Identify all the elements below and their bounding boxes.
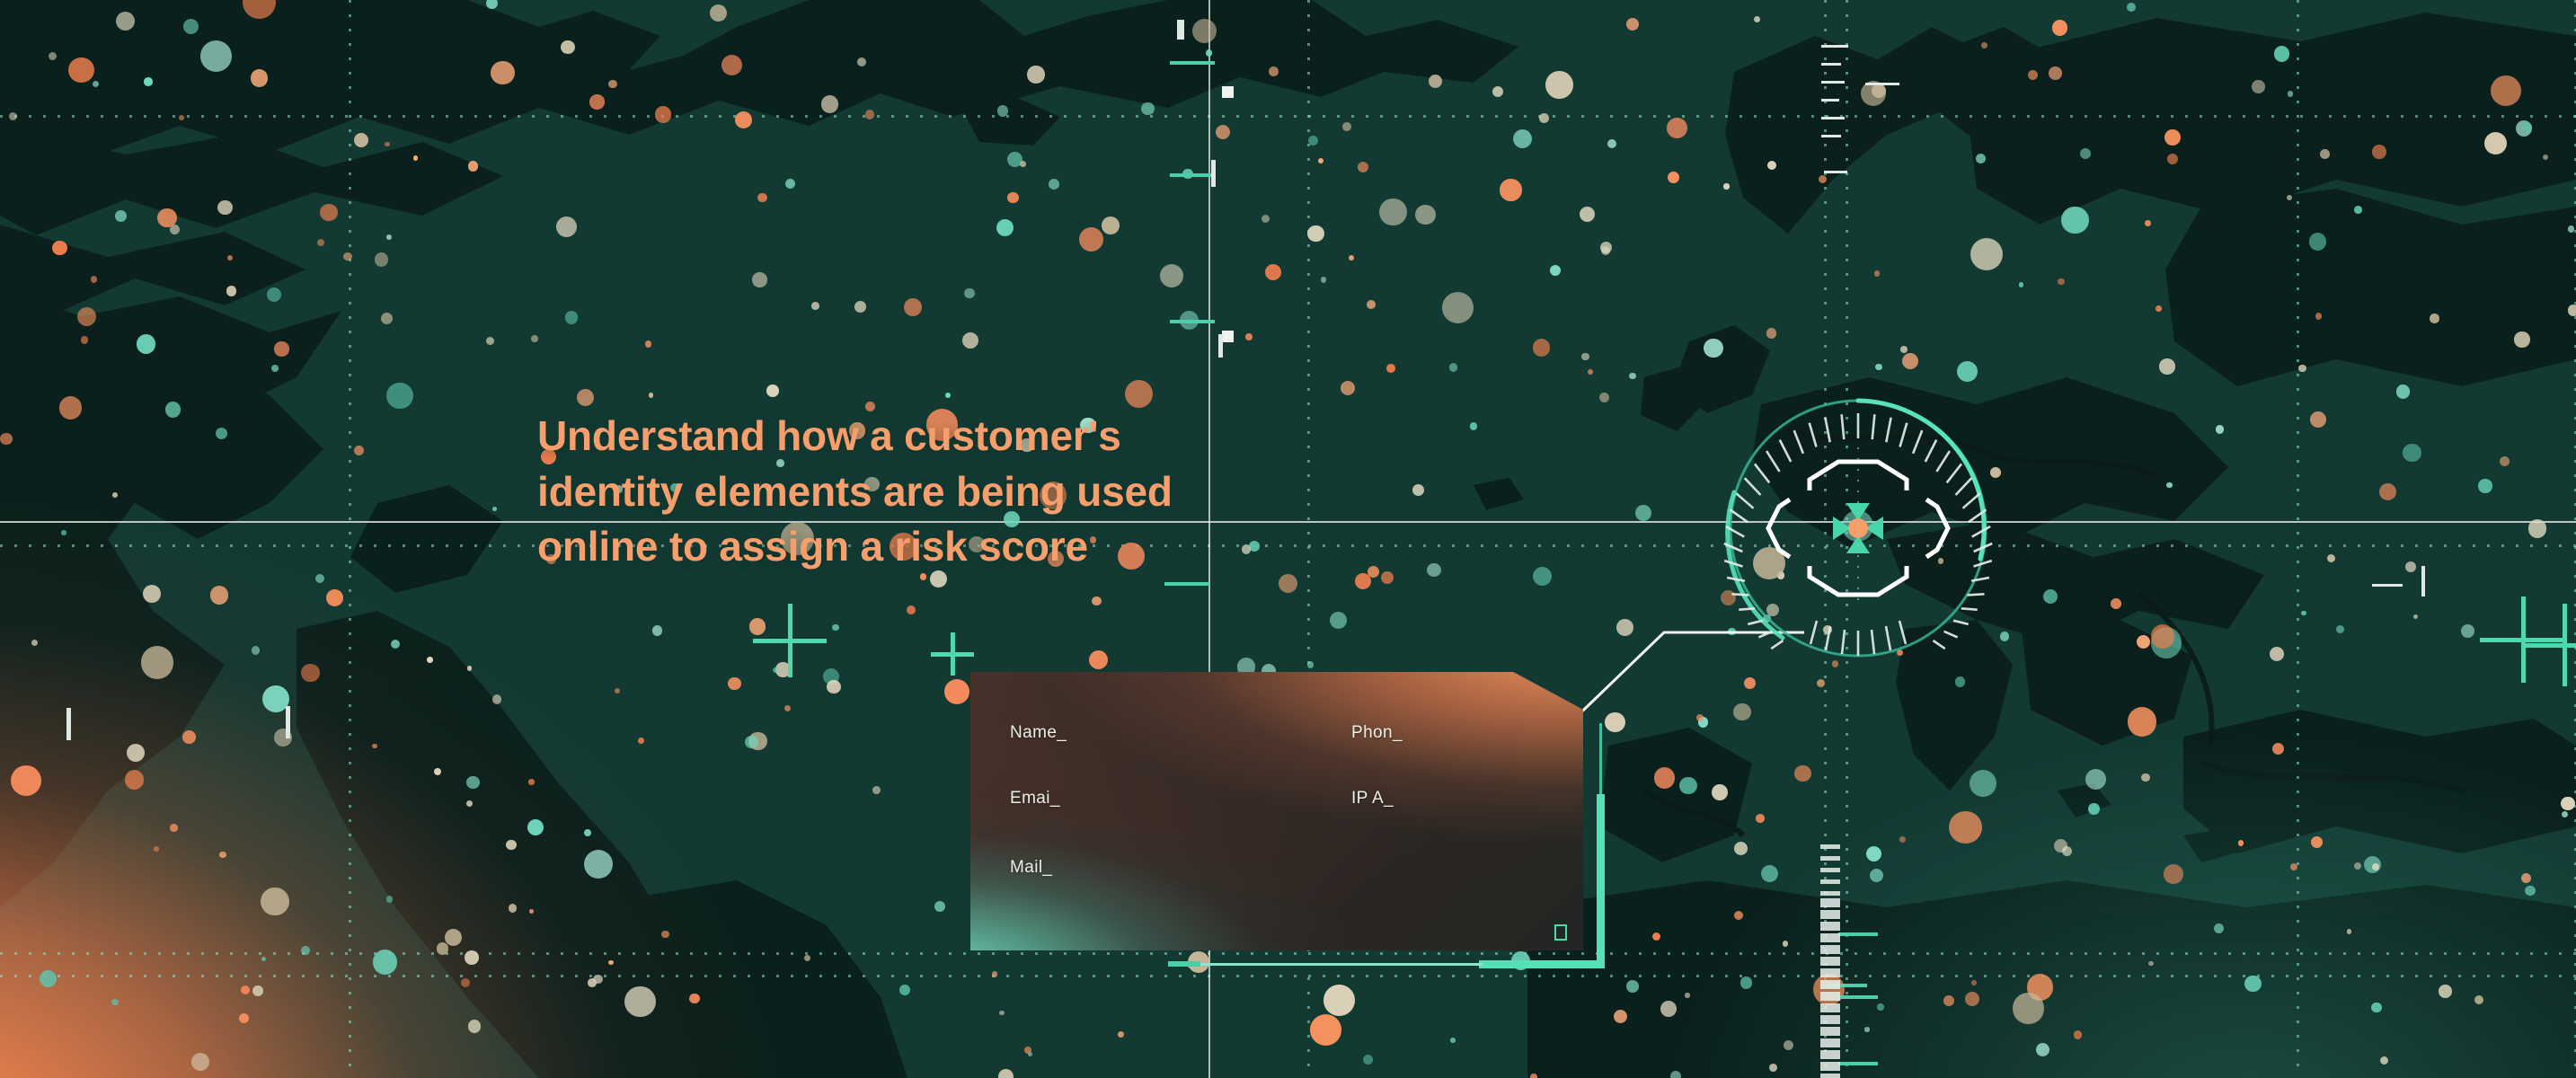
data-point-dot bbox=[2288, 91, 2294, 97]
data-point-dot bbox=[1899, 836, 1905, 842]
data-point-dot bbox=[615, 688, 620, 694]
dash-marker bbox=[1821, 135, 1841, 137]
data-point-dot bbox=[1341, 381, 1355, 395]
data-point-dot bbox=[2238, 840, 2244, 845]
data-point-dot bbox=[1635, 505, 1651, 521]
data-point-dot bbox=[1626, 980, 1639, 993]
data-point-dot bbox=[210, 586, 229, 605]
data-point-dot bbox=[766, 384, 779, 397]
data-point-dot bbox=[2214, 923, 2224, 933]
data-point-dot bbox=[997, 105, 1008, 116]
data-point-dot bbox=[2521, 873, 2531, 883]
data-point-dot bbox=[468, 1020, 481, 1032]
dash-marker bbox=[1218, 334, 1223, 358]
data-point-dot bbox=[1981, 42, 1987, 49]
data-point-dot bbox=[1794, 765, 1810, 782]
data-point-dot bbox=[2500, 456, 2510, 466]
data-point-dot bbox=[157, 208, 177, 228]
data-point-dot bbox=[2380, 1056, 2388, 1065]
data-point-dot bbox=[11, 765, 42, 797]
data-point-dot bbox=[434, 768, 441, 775]
data-point-dot bbox=[2080, 148, 2091, 159]
data-point-dot bbox=[1819, 175, 1827, 183]
dash-marker bbox=[1177, 20, 1184, 40]
data-point-dot bbox=[1783, 941, 1789, 947]
dash-marker bbox=[1170, 320, 1215, 323]
dash-marker bbox=[286, 706, 290, 738]
data-point-dot bbox=[1723, 183, 1729, 189]
data-point-dot bbox=[2561, 797, 2575, 811]
data-point-dot bbox=[1079, 227, 1103, 252]
dash-marker bbox=[1170, 61, 1215, 65]
data-point-dot bbox=[2562, 811, 2568, 817]
data-point-dot bbox=[1307, 225, 1323, 242]
data-point-dot bbox=[1864, 1027, 1869, 1031]
data-point-dot bbox=[710, 4, 727, 22]
data-point-dot bbox=[0, 433, 12, 445]
page-title: Understand how a customer's identity ele… bbox=[537, 409, 1436, 575]
data-point-dot bbox=[2396, 384, 2411, 399]
data-point-dot bbox=[2000, 632, 2009, 641]
data-point-dot bbox=[261, 957, 266, 961]
dash-marker bbox=[1821, 99, 1839, 102]
data-point-dot bbox=[1957, 361, 1978, 382]
data-point-dot bbox=[1470, 422, 1477, 429]
data-point-dot bbox=[2085, 769, 2106, 790]
dash-marker bbox=[1838, 995, 1878, 999]
dash-marker bbox=[1824, 171, 1847, 173]
data-point-dot bbox=[2148, 961, 2154, 967]
data-point-dot bbox=[1754, 16, 1760, 22]
data-point-dot bbox=[556, 216, 577, 237]
data-point-dot bbox=[182, 730, 196, 744]
data-point-dot bbox=[261, 888, 288, 915]
data-point-dot bbox=[191, 1053, 209, 1071]
data-point-dot bbox=[179, 115, 184, 120]
data-point-dot bbox=[1734, 842, 1748, 855]
dash-marker bbox=[2372, 584, 2403, 587]
data-point-dot bbox=[301, 664, 320, 683]
data-point-dot bbox=[2167, 154, 2178, 164]
data-point-dot bbox=[2019, 282, 2023, 287]
data-point-dot bbox=[561, 40, 575, 55]
data-point-dot bbox=[486, 0, 498, 9]
data-point-dot bbox=[216, 428, 227, 439]
data-point-dot bbox=[962, 332, 978, 349]
data-point-dot bbox=[752, 272, 766, 287]
data-point-dot bbox=[1679, 777, 1696, 794]
data-point-dot bbox=[375, 252, 389, 267]
dash-marker bbox=[1821, 117, 1845, 119]
data-point-dot bbox=[1141, 102, 1154, 115]
data-point-dot bbox=[81, 336, 89, 344]
data-point-dot bbox=[2514, 331, 2529, 347]
data-point-dot bbox=[1265, 264, 1281, 280]
data-point-dot bbox=[317, 239, 324, 246]
data-point-dot bbox=[1581, 353, 1589, 360]
data-point-dot bbox=[1654, 767, 1675, 788]
data-point-dot bbox=[1307, 661, 1314, 667]
data-point-dot bbox=[565, 311, 579, 324]
data-point-dot bbox=[1660, 1001, 1677, 1017]
data-point-dot bbox=[227, 255, 233, 261]
data-point-dot bbox=[1965, 992, 1979, 1006]
data-point-dot bbox=[2290, 863, 2297, 870]
data-point-dot bbox=[1450, 1038, 1456, 1043]
data-point-dot bbox=[899, 985, 910, 995]
data-point-dot bbox=[315, 574, 324, 583]
data-point-dot bbox=[492, 694, 502, 704]
data-point-dot bbox=[274, 341, 288, 356]
data-point-dot bbox=[2128, 707, 2157, 737]
data-point-dot bbox=[2270, 647, 2284, 661]
data-point-dot bbox=[2478, 479, 2492, 493]
data-point-dot bbox=[872, 786, 881, 794]
data-point-dot bbox=[111, 999, 118, 1005]
square-marker bbox=[1222, 86, 1234, 98]
data-point-dot bbox=[1976, 154, 1986, 163]
data-point-dot bbox=[491, 61, 514, 84]
data-point-dot bbox=[326, 589, 343, 606]
data-point-dot bbox=[1599, 393, 1609, 402]
data-point-dot bbox=[1367, 300, 1376, 309]
data-point-dot bbox=[1784, 1040, 1793, 1050]
data-point-dot bbox=[386, 896, 394, 903]
data-point-dot bbox=[373, 950, 397, 974]
data-point-dot bbox=[529, 909, 535, 915]
data-point-dot bbox=[127, 744, 145, 762]
field-label-name[interactable]: Name_ bbox=[1010, 723, 1067, 743]
data-point-dot bbox=[52, 241, 66, 255]
data-point-dot bbox=[506, 840, 516, 850]
data-point-dot bbox=[1492, 86, 1503, 97]
dash-marker bbox=[1838, 932, 1878, 936]
field-label-ip[interactable]: IP A_ bbox=[1351, 789, 1394, 808]
data-point-dot bbox=[945, 393, 951, 398]
data-point-dot bbox=[1955, 676, 1966, 687]
data-point-dot bbox=[1875, 364, 1882, 371]
data-point-dot bbox=[1363, 1055, 1373, 1065]
data-point-dot bbox=[857, 57, 866, 66]
data-point-dot bbox=[251, 69, 269, 87]
dash-marker bbox=[1838, 1062, 1878, 1065]
data-point-dot bbox=[2439, 985, 2452, 998]
panel-field-labels: Name_ Phon_ Emai_ IP A_ Mail_ bbox=[970, 672, 1583, 950]
data-point-dot bbox=[301, 946, 309, 954]
data-point-dot bbox=[2372, 145, 2386, 159]
data-point-dot bbox=[252, 985, 263, 996]
data-point-dot bbox=[1769, 1064, 1777, 1072]
data-point-dot bbox=[1949, 811, 1982, 844]
data-point-dot bbox=[934, 901, 945, 912]
data-point-dot bbox=[2013, 993, 2043, 1023]
data-point-dot bbox=[2413, 614, 2418, 619]
data-point-dot bbox=[1279, 574, 1297, 593]
data-point-dot bbox=[1588, 369, 1593, 375]
data-point-dot bbox=[2274, 46, 2289, 61]
data-point-dot bbox=[31, 640, 38, 646]
data-point-dot bbox=[2301, 611, 2306, 616]
data-point-dot bbox=[2036, 1043, 2049, 1056]
square-outline-marker bbox=[1554, 924, 1567, 941]
data-point-dot bbox=[1342, 122, 1351, 131]
data-point-dot bbox=[445, 929, 462, 946]
data-point-dot bbox=[144, 77, 152, 85]
data-point-dot bbox=[486, 337, 494, 345]
data-point-dot bbox=[821, 95, 839, 113]
field-label-phone[interactable]: Phon_ bbox=[1351, 723, 1403, 743]
data-point-dot bbox=[461, 978, 470, 987]
data-point-dot bbox=[93, 81, 99, 87]
data-point-dot bbox=[904, 298, 922, 316]
data-point-dot bbox=[1261, 215, 1270, 223]
data-point-dot bbox=[2028, 70, 2038, 80]
data-point-dot bbox=[1330, 612, 1347, 629]
field-label-email[interactable]: Emai_ bbox=[1010, 789, 1060, 808]
data-point-dot bbox=[1600, 242, 1612, 253]
data-point-dot bbox=[381, 313, 393, 324]
data-point-dot bbox=[252, 646, 261, 655]
data-point-dot bbox=[2347, 929, 2351, 933]
data-point-dot bbox=[1308, 136, 1318, 146]
data-point-dot bbox=[1206, 49, 1212, 56]
data-point-dot bbox=[1866, 846, 1881, 862]
crosshair-marker-small bbox=[931, 632, 974, 676]
data-point-dot bbox=[354, 446, 364, 455]
data-point-dot bbox=[1900, 346, 1908, 353]
data-point-dot bbox=[271, 365, 279, 372]
data-point-dot bbox=[1943, 995, 1954, 1006]
data-point-dot bbox=[267, 287, 281, 302]
data-point-dot bbox=[1027, 66, 1044, 83]
data-point-dot bbox=[784, 705, 791, 711]
data-point-dot bbox=[1358, 162, 1368, 172]
data-point-dot bbox=[1386, 364, 1395, 373]
data-point-dot bbox=[1429, 75, 1442, 88]
data-point-dot bbox=[1766, 328, 1776, 338]
data-point-dot bbox=[1323, 985, 1355, 1016]
data-point-dot bbox=[1415, 205, 1436, 225]
data-point-dot bbox=[1668, 172, 1679, 183]
data-point-dot bbox=[999, 1011, 1005, 1016]
data-point-dot bbox=[1442, 292, 1474, 323]
data-point-dot bbox=[1007, 192, 1018, 203]
data-point-dot bbox=[2474, 995, 2483, 1004]
data-point-dot bbox=[531, 335, 539, 343]
data-point-dot bbox=[998, 1069, 1014, 1078]
data-point-dot bbox=[2272, 743, 2284, 755]
data-point-dot bbox=[437, 942, 449, 955]
data-point-dot bbox=[1877, 1003, 1884, 1011]
data-point-dot bbox=[354, 133, 368, 147]
crosshair-marker-large bbox=[753, 604, 827, 677]
data-point-dot bbox=[183, 19, 199, 34]
data-point-dot bbox=[137, 334, 156, 354]
data-point-dot bbox=[2311, 836, 2323, 848]
data-point-dot bbox=[2525, 886, 2535, 896]
data-point-dot bbox=[645, 340, 652, 348]
data-point-dot bbox=[1756, 814, 1765, 823]
bracket-thin-line bbox=[1168, 963, 1483, 966]
identity-elements-panel[interactable]: Name_ Phon_ Emai_ IP A_ Mail_ bbox=[970, 672, 1583, 950]
data-point-dot bbox=[2491, 75, 2521, 106]
data-point-dot bbox=[386, 234, 392, 240]
data-point-dot bbox=[2336, 625, 2344, 633]
data-point-dot bbox=[2379, 483, 2397, 501]
data-point-dot bbox=[91, 276, 97, 282]
data-point-dot bbox=[1118, 1031, 1124, 1038]
data-point-dot bbox=[2043, 589, 2058, 604]
data-point-dot bbox=[2145, 220, 2151, 226]
data-point-dot bbox=[243, 0, 276, 19]
data-point-dot bbox=[1545, 71, 1573, 99]
data-point-dot bbox=[1530, 1074, 1537, 1078]
targeting-reticle[interactable] bbox=[1723, 393, 1993, 663]
data-point-dot bbox=[2484, 132, 2508, 155]
data-point-dot bbox=[1607, 139, 1616, 148]
data-point-dot bbox=[1767, 161, 1776, 170]
dash-marker bbox=[1164, 582, 1209, 586]
data-point-dot bbox=[745, 736, 757, 748]
data-point-dot bbox=[68, 57, 94, 84]
data-point-dot bbox=[1092, 596, 1102, 606]
data-point-dot bbox=[2568, 225, 2574, 232]
dash-marker bbox=[1168, 961, 1200, 967]
data-point-dot bbox=[509, 904, 517, 912]
data-point-dot bbox=[1626, 18, 1639, 31]
data-point-dot bbox=[865, 110, 875, 119]
data-point-dot bbox=[996, 219, 1014, 236]
data-point-dot bbox=[112, 492, 119, 499]
data-point-dot bbox=[239, 1013, 249, 1023]
data-point-dot bbox=[1102, 216, 1120, 234]
data-point-dot bbox=[1049, 179, 1059, 190]
data-point-dot bbox=[2061, 207, 2089, 234]
data-point-dot bbox=[466, 776, 480, 790]
data-point-dot bbox=[2568, 305, 2576, 316]
data-point-dot bbox=[2049, 66, 2061, 79]
data-point-dot bbox=[1310, 1014, 1341, 1046]
data-point-dot bbox=[1216, 125, 1230, 139]
data-point-dot bbox=[343, 252, 351, 261]
data-point-dot bbox=[2216, 425, 2225, 434]
data-point-dot bbox=[589, 94, 604, 109]
dash-marker bbox=[1821, 45, 1848, 48]
data-point-dot bbox=[1020, 161, 1026, 167]
data-point-dot bbox=[2430, 314, 2439, 323]
data-point-dot bbox=[9, 112, 17, 120]
data-point-dot bbox=[2543, 155, 2548, 160]
data-point-dot bbox=[785, 179, 795, 189]
data-point-dot bbox=[1971, 980, 1977, 985]
data-point-dot bbox=[200, 40, 232, 72]
dash-marker bbox=[2421, 566, 2425, 596]
data-point-dot bbox=[40, 970, 57, 987]
data-point-dot bbox=[2403, 444, 2421, 463]
crosshair-marker-edge bbox=[2523, 604, 2576, 686]
data-point-dot bbox=[2354, 206, 2362, 214]
data-point-dot bbox=[1379, 199, 1406, 225]
data-point-dot bbox=[735, 111, 752, 128]
dash-marker bbox=[1821, 81, 1845, 84]
data-point-dot bbox=[49, 52, 57, 60]
dash-marker bbox=[1170, 173, 1215, 177]
data-point-dot bbox=[2522, 122, 2532, 132]
dash-marker bbox=[1865, 83, 1899, 85]
data-point-dot bbox=[1902, 353, 1918, 369]
data-point-dot bbox=[1449, 363, 1457, 371]
data-point-dot bbox=[165, 402, 181, 418]
data-point-dot bbox=[832, 624, 838, 631]
data-point-dot bbox=[1550, 265, 1561, 276]
data-point-dot bbox=[854, 301, 866, 313]
data-point-dot bbox=[1740, 976, 1752, 988]
data-point-dot bbox=[1089, 650, 1108, 669]
square-marker bbox=[1222, 331, 1234, 342]
data-point-dot bbox=[2164, 129, 2182, 146]
data-point-dot bbox=[386, 383, 412, 409]
data-point-dot bbox=[804, 955, 810, 961]
data-point-dot bbox=[689, 994, 700, 1004]
data-point-dot bbox=[143, 585, 161, 603]
data-point-dot bbox=[468, 161, 479, 172]
data-point-dot bbox=[372, 744, 376, 748]
data-point-dot bbox=[2141, 773, 2150, 782]
data-point-dot bbox=[2315, 313, 2323, 320]
data-point-dot bbox=[466, 800, 473, 807]
data-point-dot bbox=[492, 507, 497, 511]
data-point-dot bbox=[1685, 993, 1690, 998]
dash-marker bbox=[66, 708, 71, 740]
data-point-dot bbox=[2405, 561, 2416, 572]
dash-marker bbox=[1211, 160, 1216, 187]
data-point-dot bbox=[584, 829, 592, 837]
data-point-dot bbox=[2088, 803, 2100, 815]
data-point-dot bbox=[1192, 19, 1217, 43]
field-label-mail[interactable]: Mail_ bbox=[1010, 858, 1052, 878]
bracket-thin-line bbox=[1599, 723, 1602, 797]
data-point-dot bbox=[1500, 179, 1521, 200]
data-point-dot bbox=[652, 625, 662, 635]
data-point-dot bbox=[2156, 305, 2163, 313]
data-point-dot bbox=[77, 307, 96, 326]
data-point-dot bbox=[2159, 358, 2174, 374]
data-point-dot bbox=[1245, 333, 1253, 340]
data-point-dot bbox=[1761, 865, 1778, 882]
bracket-vertical bbox=[1597, 794, 1605, 968]
data-point-dot bbox=[1874, 270, 1880, 276]
data-point-dot bbox=[320, 204, 337, 221]
data-point-dot bbox=[728, 677, 740, 690]
data-point-dot bbox=[1318, 158, 1323, 163]
data-point-dot bbox=[217, 200, 233, 216]
data-point-dot bbox=[467, 666, 472, 670]
data-point-dot bbox=[1712, 784, 1728, 800]
data-point-dot bbox=[527, 819, 544, 835]
data-point-dot bbox=[661, 931, 669, 939]
data-point-dot bbox=[2287, 195, 2292, 200]
data-point-dot bbox=[2528, 519, 2546, 537]
data-point-dot bbox=[649, 393, 654, 398]
data-point-dot bbox=[1614, 1010, 1628, 1024]
data-point-dot bbox=[588, 978, 597, 987]
data-point-dot bbox=[1125, 380, 1153, 408]
data-point-dot bbox=[2309, 233, 2327, 251]
data-point-dot bbox=[226, 286, 236, 296]
data-point-dot bbox=[757, 193, 766, 202]
data-point-dot bbox=[2298, 365, 2306, 372]
data-point-dot bbox=[141, 646, 173, 678]
